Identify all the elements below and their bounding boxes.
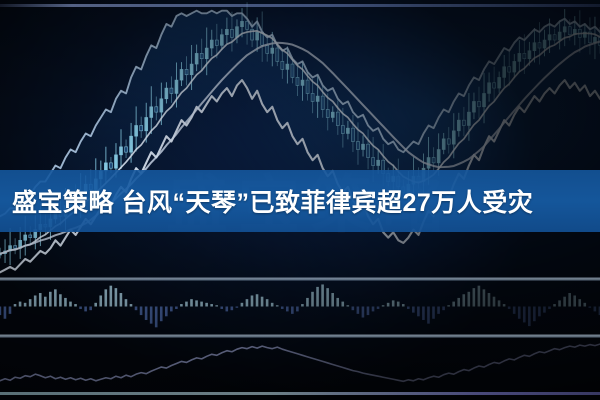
headline-banner: 盛宝策略 台风“天琴”已致菲律宾超27万人受灾	[0, 170, 600, 232]
panel-divider-lower	[0, 334, 600, 338]
bottom-divider	[0, 392, 600, 395]
headline-text: 盛宝策略 台风“天琴”已致菲律宾超27万人受灾	[0, 183, 533, 219]
news-thumbnail: 盛宝策略 盛宝策略 台风“天琴”已致菲律宾超27万人受灾	[0, 0, 600, 400]
panel-divider-upper	[0, 277, 600, 281]
top-divider	[0, 4, 600, 7]
